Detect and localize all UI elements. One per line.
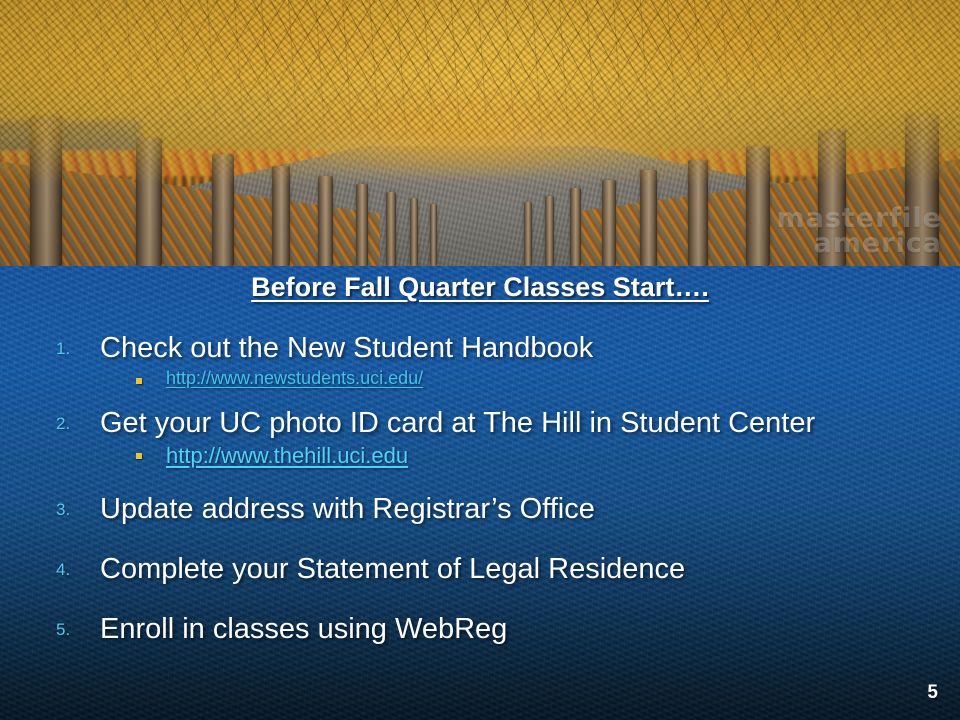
photo-watermark: masterfile america xyxy=(776,206,942,256)
photo-tree-trunk xyxy=(524,202,532,266)
photo-tree-trunk xyxy=(430,204,437,266)
numbered-list: 1. Check out the New Student Handbook ht… xyxy=(48,328,938,651)
list-item: 4. Complete your Statement of Legal Resi… xyxy=(48,549,938,589)
list-item-number: 5. xyxy=(56,620,70,640)
list-item-text: Update address with Registrar’s Office xyxy=(100,493,595,525)
photo-tree-trunk xyxy=(602,180,616,266)
photo-tree-trunk xyxy=(570,188,581,266)
list-item-number: 4. xyxy=(56,560,70,580)
square-bullet-icon xyxy=(136,453,142,459)
list-item: 2. Get your UC photo ID card at The Hill… xyxy=(48,403,938,443)
photo-watermark-line2: america xyxy=(776,231,942,256)
photo-tree-trunk xyxy=(545,196,554,266)
list-item-text: Get your UC photo ID card at The Hill in… xyxy=(100,407,815,439)
list-item-number: 3. xyxy=(56,500,70,520)
photo-tree-trunk xyxy=(410,198,418,266)
list-item-number: 1. xyxy=(56,339,70,359)
list-item-text: Enroll in classes using WebReg xyxy=(100,613,507,645)
list-item-text: Check out the New Student Handbook xyxy=(100,332,593,364)
list-item: 1. Check out the New Student Handbook xyxy=(48,328,938,368)
autumn-road-photo: masterfile america xyxy=(0,0,960,266)
presentation-slide: masterfile america Before Fall Quarter C… xyxy=(0,0,960,720)
sub-list-item: http://www.newstudents.uci.edu/ xyxy=(48,368,938,389)
list-item: 5. Enroll in classes using WebReg xyxy=(48,609,938,649)
sub-list-item: http://www.thehill.uci.edu xyxy=(48,443,938,469)
square-bullet-icon xyxy=(136,378,142,384)
link-thehill[interactable]: http://www.thehill.uci.edu xyxy=(166,443,408,468)
link-newstudents[interactable]: http://www.newstudents.uci.edu/ xyxy=(166,368,423,388)
slide-content: Before Fall Quarter Classes Start…. 1. C… xyxy=(0,266,960,720)
list-item-number: 2. xyxy=(56,414,70,434)
photo-tree-trunk xyxy=(386,192,396,266)
slide-number: 5 xyxy=(927,682,938,704)
photo-branches xyxy=(0,0,960,140)
photo-tree-trunk xyxy=(318,176,333,266)
slide-title: Before Fall Quarter Classes Start…. xyxy=(0,272,960,303)
list-item-text: Complete your Statement of Legal Residen… xyxy=(100,553,685,585)
photo-tree-trunk xyxy=(356,184,368,266)
list-item: 3. Update address with Registrar’s Offic… xyxy=(48,489,938,529)
